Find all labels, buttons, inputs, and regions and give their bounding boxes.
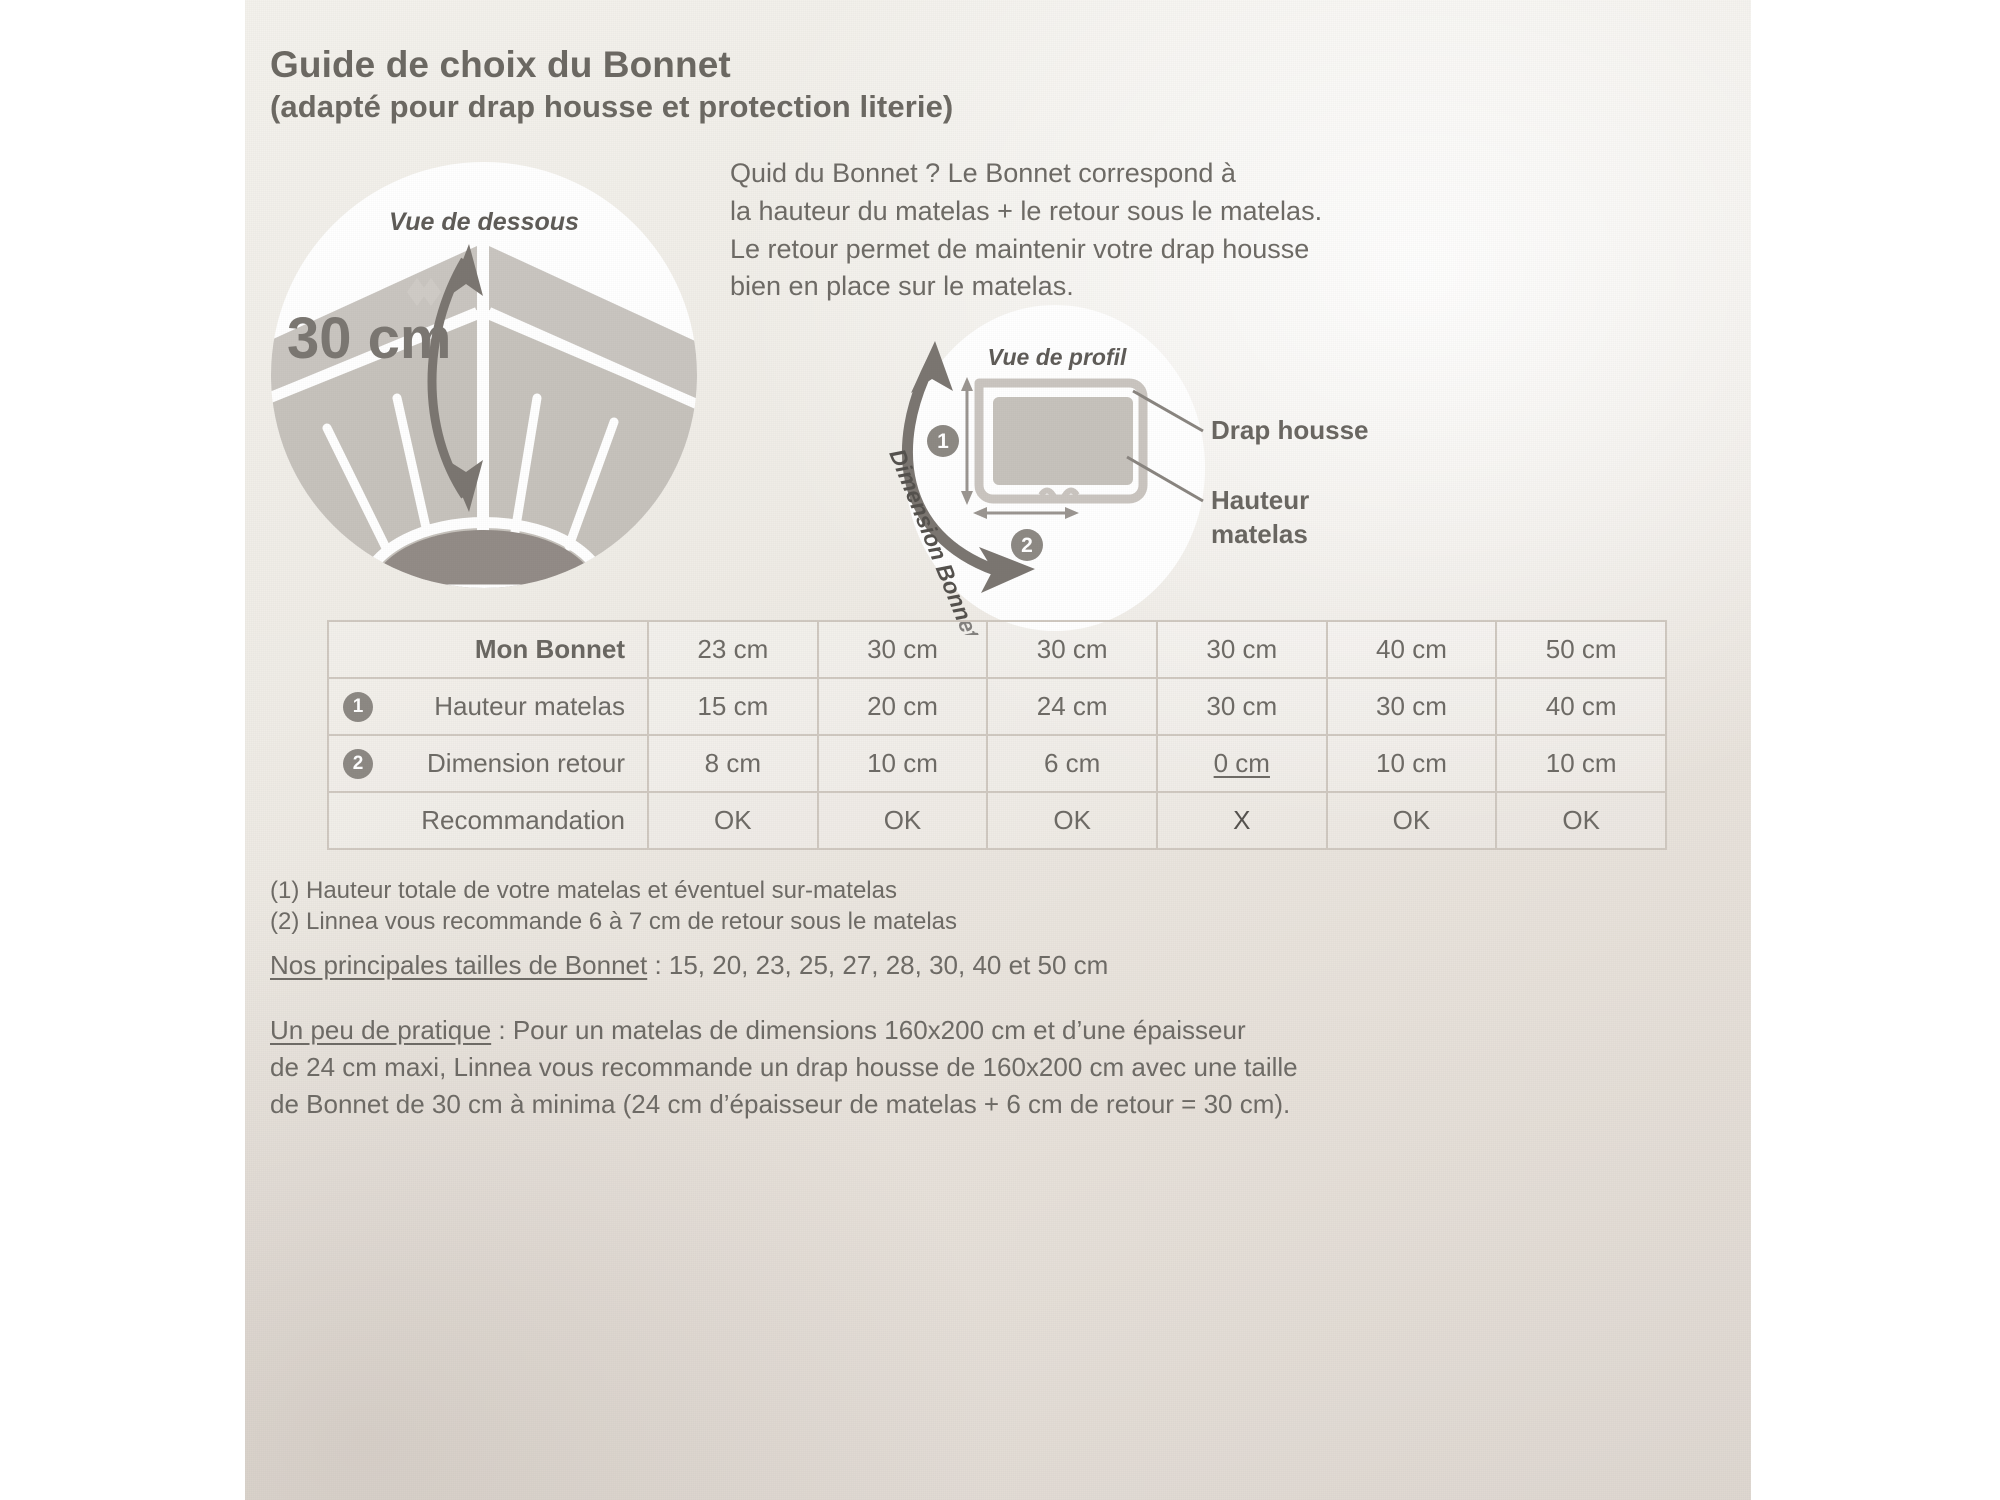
table-cell: 24 cm [987,678,1157,735]
table-header-row: Mon Bonnet 23 cm 30 cm 30 cm 30 cm 40 cm… [328,621,1666,678]
table-cell: OK [648,792,818,849]
table-row: Recommandation OK OK OK X OK OK [328,792,1666,849]
row-label-recommandation: Recommandation [328,792,648,849]
table-cell-not-recommended: X [1157,792,1327,849]
intro-line-1: Quid du Bonnet ? Le Bonnet correspond à [730,155,1350,193]
intro-line-4: bien en place sur le matelas. [730,268,1350,306]
diagram-vue-de-dessous: Vue de dessous 30 cm [269,160,699,590]
table-cell: 10 cm [818,735,988,792]
label-hauteur-matelas-line1: Hauteur [1211,485,1309,515]
badge-2-label: 2 [1021,534,1033,557]
practice-line-1: Un peu de pratique : Pour un matelas de … [270,1012,1650,1049]
profile-view-caption: Vue de profil [988,344,1127,370]
table-row: 1 Hauteur matelas 15 cm 20 cm 24 cm 30 c… [328,678,1666,735]
table-cell: OK [1496,792,1666,849]
table-row: 2 Dimension retour 8 cm 10 cm 6 cm 0 cm … [328,735,1666,792]
practice-line-2: de 24 cm maxi, Linnea vous recommande un… [270,1049,1650,1086]
sizes-label: Nos principales tailles de Bonnet [270,950,647,980]
footnote-2: (2) Linnea vous recommande 6 à 7 cm de r… [270,906,1610,937]
table-header-label: Mon Bonnet [328,621,648,678]
page-subtitle: (adapté pour drap housse et protection l… [270,89,953,126]
row-label-text: Dimension retour [427,748,625,778]
row-label-text: Recommandation [421,805,625,835]
table-cell: 6 cm [987,735,1157,792]
intro-line-3: Le retour permet de maintenir votre drap… [730,231,1350,269]
table-cell: OK [987,792,1157,849]
row-badge-1: 1 [343,692,373,722]
table-cell: 15 cm [648,678,818,735]
label-drap-housse: Drap housse [1211,415,1369,445]
table-cell: 40 cm [1496,678,1666,735]
table-cell: 20 cm [818,678,988,735]
row-label-text: Hauteur matelas [434,691,625,721]
page-title: Guide de choix du Bonnet [270,44,953,85]
mattress-block [993,397,1133,485]
footnote-1: (1) Hauteur totale de votre matelas et é… [270,875,1610,906]
table-cell-highlight: 0 cm [1157,735,1327,792]
table-header-cell: 50 cm [1496,621,1666,678]
table-cell: OK [818,792,988,849]
intro-line-2: la hauteur du matelas + le retour sous l… [730,193,1350,231]
table-cell: 10 cm [1496,735,1666,792]
diagram-vue-de-profil: Dimension Bonnet 1 2 [845,305,1405,635]
label-hauteur-matelas-line2: matelas [1211,519,1308,549]
row-label-dimension-retour: 2 Dimension retour [328,735,648,792]
table-cell: 30 cm [1327,678,1497,735]
row-label-hauteur-matelas: 1 Hauteur matelas [328,678,648,735]
sizes-values: : 15, 20, 23, 25, 27, 28, 30, 40 et 50 c… [647,950,1108,980]
bottom-view-measure: 30 cm [287,306,451,371]
profile-view-illustration: Dimension Bonnet 1 2 [845,305,1405,635]
bottom-view-caption: Vue de dessous [389,208,579,236]
practice-label: Un peu de pratique [270,1015,491,1045]
table-cell: OK [1327,792,1497,849]
table-header-cell: 23 cm [648,621,818,678]
poster-canvas: Guide de choix du Bonnet (adapté pour dr… [245,0,1751,1500]
practice-line-3: de Bonnet de 30 cm à minima (24 cm d’épa… [270,1086,1650,1123]
practice-paragraph: Un peu de pratique : Pour un matelas de … [270,1012,1650,1123]
footnotes: (1) Hauteur totale de votre matelas et é… [270,875,1610,937]
bottom-view-illustration: Vue de dessous 30 cm [269,160,699,590]
badge-1-label: 1 [937,430,949,453]
table-header-cell: 30 cm [818,621,988,678]
row-badge-2: 2 [343,749,373,779]
table-cell: 8 cm [648,735,818,792]
table-header-cell: 30 cm [1157,621,1327,678]
table-cell: 30 cm [1157,678,1327,735]
table-cell: 10 cm [1327,735,1497,792]
table-header-cell: 30 cm [987,621,1157,678]
practice-line-1-rest: : Pour un matelas de dimensions 160x200 … [491,1015,1245,1045]
intro-paragraph: Quid du Bonnet ? Le Bonnet correspond à … [730,155,1350,306]
sizes-line: Nos principales tailles de Bonnet : 15, … [270,950,1108,981]
bonnet-table: Mon Bonnet 23 cm 30 cm 30 cm 30 cm 40 cm… [327,620,1667,850]
table-header-cell: 40 cm [1327,621,1497,678]
title-block: Guide de choix du Bonnet (adapté pour dr… [270,44,953,126]
